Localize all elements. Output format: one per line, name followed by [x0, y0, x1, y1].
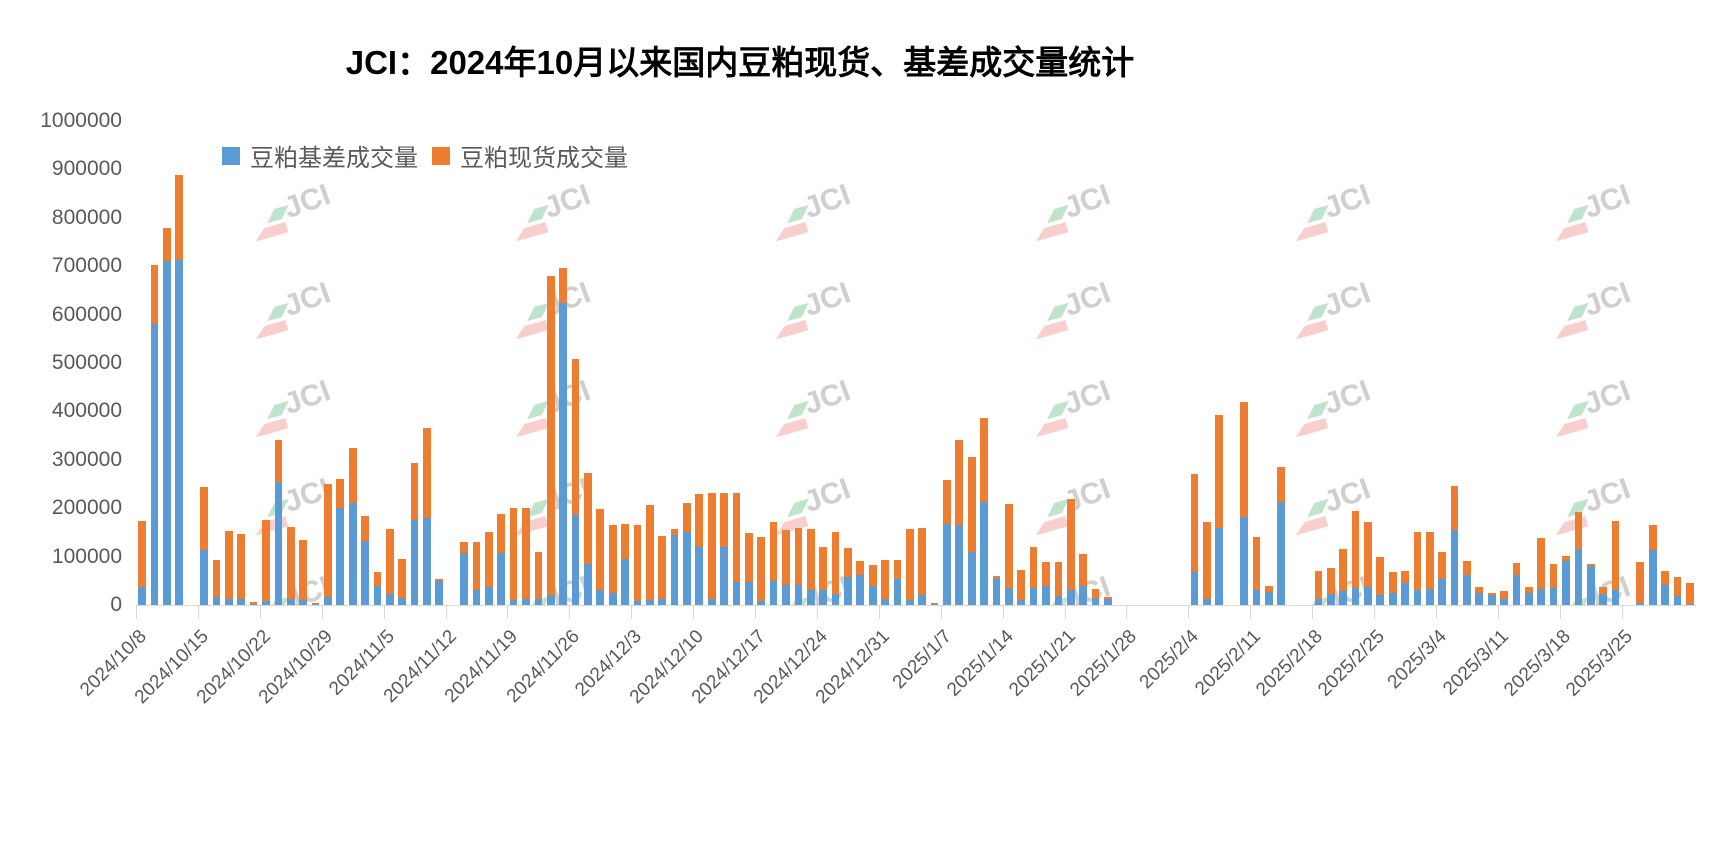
bar-segment-spot [1253, 537, 1261, 590]
bar-segment-basis [138, 587, 146, 605]
bar-segment-basis [1352, 588, 1360, 605]
bar-segment-spot [175, 175, 183, 260]
bar-segment-basis [1562, 561, 1570, 605]
bar-column [819, 121, 827, 605]
bar-column [695, 121, 703, 605]
bar-segment-basis [411, 520, 419, 605]
bar-column [621, 121, 629, 605]
bar-column [1005, 121, 1013, 605]
x-axis-tick-label: 2024/12/31 [780, 626, 895, 741]
bar-segment-spot [708, 493, 716, 599]
bar-segment-spot [1030, 547, 1038, 588]
bar-segment-basis [460, 553, 468, 605]
bar-segment-spot [671, 529, 679, 535]
bar-column [1030, 121, 1038, 605]
bar-segment-spot [943, 480, 951, 524]
bar-segment-basis [1240, 517, 1248, 605]
bar-segment-spot [795, 528, 803, 585]
bar-segment-basis [609, 593, 617, 605]
bar-segment-basis [993, 578, 1001, 605]
x-axis-tick-label: 2024/12/24 [718, 626, 833, 741]
bar-column [1562, 121, 1570, 605]
bar-segment-basis [361, 541, 369, 605]
bar-segment-spot [980, 418, 988, 503]
bar-segment-basis [1451, 530, 1459, 605]
x-axis-tick [1622, 605, 1623, 619]
bar-column [1488, 121, 1496, 605]
bar-segment-basis [547, 595, 555, 605]
bar-segment-basis [844, 577, 852, 605]
x-axis-tick [569, 605, 570, 619]
bar-column [374, 121, 382, 605]
bar-column [1451, 121, 1459, 605]
bar-column [225, 121, 233, 605]
bar-segment-basis [596, 590, 604, 605]
x-axis-tick-label: 2025/3/18 [1461, 626, 1576, 741]
bar-segment-spot [287, 527, 295, 600]
bar-segment-spot [262, 520, 270, 601]
bar-segment-basis [1525, 593, 1533, 605]
bar-column [1587, 121, 1595, 605]
bar-column [1612, 121, 1620, 605]
bar-column [1055, 121, 1063, 605]
bar-segment-spot [435, 579, 443, 580]
bar-column [1537, 121, 1545, 605]
bar-segment-spot [782, 530, 790, 585]
legend-item-spot[interactable]: 豆粕现货成交量 [432, 138, 628, 173]
x-axis-tick [693, 605, 694, 619]
bar-segment-basis [151, 324, 159, 605]
bar-segment-spot [497, 514, 505, 553]
x-axis-tick [322, 605, 323, 619]
x-axis-tick [1498, 605, 1499, 619]
x-axis-tick-label: 2024/11/12 [347, 626, 462, 741]
bar-segment-spot [559, 268, 567, 303]
bar-column [1438, 121, 1446, 605]
bar-segment-spot [250, 602, 258, 603]
bar-column [1525, 121, 1533, 605]
legend-label-basis: 豆粕基差成交量 [250, 138, 418, 173]
bar-column [1253, 121, 1261, 605]
bar-segment-basis [1376, 595, 1384, 605]
x-axis-tick [1560, 605, 1561, 619]
x-axis-tick [1003, 605, 1004, 619]
bar-column [1017, 121, 1025, 605]
bar-segment-spot [138, 521, 146, 586]
bar-column [795, 121, 803, 605]
x-axis-tick [755, 605, 756, 619]
bar-segment-spot [213, 560, 221, 596]
bar-segment-spot [1277, 467, 1285, 502]
bar-segment-basis [1092, 598, 1100, 605]
bar-segment-spot [1055, 562, 1063, 596]
bar-segment-spot [819, 547, 827, 590]
bar-column [398, 121, 406, 605]
bar-column [683, 121, 691, 605]
bar-segment-basis [1042, 586, 1050, 605]
legend-swatch-basis [222, 147, 240, 165]
bar-segment-spot [1488, 593, 1496, 595]
x-axis-tick [1126, 605, 1127, 619]
bar-segment-spot [931, 603, 939, 604]
bar-segment-spot [361, 516, 369, 541]
bar-column [918, 121, 926, 605]
bar-segment-basis [695, 547, 703, 605]
bar-segment-spot [1104, 597, 1112, 599]
bar-segment-basis [1599, 594, 1607, 605]
x-axis-tick-label: 2024/11/19 [408, 626, 523, 741]
bar-segment-basis [584, 564, 592, 605]
bar-column [497, 121, 505, 605]
bar-segment-spot [1649, 525, 1657, 551]
bar-segment-basis [1277, 502, 1285, 605]
bar-segment-spot [398, 559, 406, 598]
bar-column [510, 121, 518, 605]
bar-column [1079, 121, 1087, 605]
bar-segment-spot [621, 524, 629, 559]
bar-segment-spot [658, 536, 666, 599]
bar-column [1475, 121, 1483, 605]
bar-column [1376, 121, 1384, 605]
bar-column [1550, 121, 1558, 605]
x-axis-tick-label: 2025/2/18 [1213, 626, 1328, 741]
x-axis-tick [136, 605, 137, 619]
bar-column [943, 121, 951, 605]
y-axis-tick-label: 500000 [52, 351, 122, 375]
bar-segment-basis [770, 581, 778, 605]
bar-segment-spot [225, 531, 233, 599]
bar-segment-spot [1575, 512, 1583, 549]
bar-column [435, 121, 443, 605]
bar-column [423, 121, 431, 605]
bar-segment-basis [1649, 550, 1657, 605]
bar-segment-spot [1327, 568, 1335, 595]
bar-segment-basis [572, 515, 580, 605]
bar-column [312, 121, 320, 605]
bar-segment-spot [733, 493, 741, 582]
bar-segment-basis [1612, 590, 1620, 605]
x-axis-tick [384, 605, 385, 619]
bar-segment-spot [312, 603, 320, 604]
bar-segment-basis [1401, 583, 1409, 605]
bar-segment-basis [621, 559, 629, 605]
bar-segment-basis [200, 550, 208, 605]
bar-column [782, 121, 790, 605]
bar-segment-spot [1265, 586, 1273, 592]
bar-segment-basis [980, 502, 988, 605]
bar-segment-basis [1513, 575, 1521, 605]
bar-segment-basis [1575, 549, 1583, 605]
bar-column [881, 121, 889, 605]
bar-column [609, 121, 617, 605]
bar-column [646, 121, 654, 605]
x-axis-tick [1065, 605, 1066, 619]
bar-segment-basis [1537, 589, 1545, 605]
bar-segment-spot [1587, 564, 1595, 566]
bar-column [584, 121, 592, 605]
y-axis-tick-label: 400000 [52, 399, 122, 423]
bar-segment-basis [819, 590, 827, 605]
bar-column [1575, 121, 1583, 605]
bar-column [275, 121, 283, 605]
watermark-layer: JCIJCIJCIJCIJCIJCIJCIJCIJCIJCIJCIJCIJCIJ… [136, 121, 1696, 605]
bar-segment-spot [423, 428, 431, 518]
bar-segment-basis [423, 518, 431, 605]
x-axis-tick [941, 605, 942, 619]
bar-segment-basis [1253, 590, 1261, 605]
bar-segment-spot [1451, 486, 1459, 530]
x-axis-tick-label: 2025/1/14 [904, 626, 1019, 741]
bar-segment-basis [1055, 596, 1063, 605]
bar-segment-basis [1426, 589, 1434, 605]
bar-segment-basis [435, 581, 443, 605]
bar-segment-basis [349, 503, 357, 605]
bar-column [361, 121, 369, 605]
bar-segment-basis [918, 595, 926, 605]
bar-column [1414, 121, 1422, 605]
bar-segment-spot [411, 463, 419, 520]
bar-segment-spot [906, 529, 914, 601]
x-axis-tick-label: 2024/12/3 [532, 626, 647, 741]
bar-segment-spot [584, 473, 592, 564]
bar-column [980, 121, 988, 605]
bar-segment-spot [460, 542, 468, 553]
bar-column [844, 121, 852, 605]
bar-segment-basis [386, 594, 394, 605]
bar-segment-spot [993, 576, 1001, 578]
x-axis-tick [1436, 605, 1437, 619]
bar-segment-basis [1030, 588, 1038, 605]
bar-segment-spot [844, 548, 852, 577]
bar-segment-spot [275, 440, 283, 481]
bar-segment-spot [1240, 402, 1248, 517]
bar-column [745, 121, 753, 605]
bar-column [1215, 121, 1223, 605]
chart-legend: 豆粕基差成交量豆粕现货成交量 [222, 138, 628, 173]
bar-segment-spot [1203, 522, 1211, 599]
bar-segment-spot [1475, 587, 1483, 593]
bar-segment-basis [1215, 528, 1223, 605]
bar-segment-spot [336, 479, 344, 508]
bar-column [138, 121, 146, 605]
bar-segment-basis [398, 598, 406, 605]
bar-segment-spot [968, 457, 976, 551]
bar-segment-spot [894, 560, 902, 579]
bar-segment-basis [1327, 594, 1335, 605]
bar-column [1401, 121, 1409, 605]
bar-column [1327, 121, 1335, 605]
bar-column [324, 121, 332, 605]
bar-column [658, 121, 666, 605]
bar-segment-basis [1005, 588, 1013, 605]
bar-segment-basis [324, 597, 332, 605]
bar-segment-spot [1686, 583, 1694, 603]
bar-column [955, 121, 963, 605]
bar-segment-basis [485, 587, 493, 605]
bar-segment-spot [1005, 504, 1013, 588]
y-axis-tick-label: 600000 [52, 303, 122, 327]
bar-segment-basis [807, 590, 815, 605]
bar-segment-basis [782, 585, 790, 605]
bar-segment-basis [1265, 592, 1273, 605]
bar-column [485, 121, 493, 605]
bar-segment-basis [1475, 593, 1483, 605]
x-axis-tick [446, 605, 447, 619]
x-axis-tick [1188, 605, 1189, 619]
bar-segment-spot [856, 561, 864, 575]
bar-segment-basis [473, 590, 481, 605]
bar-segment-spot [646, 505, 654, 600]
bar-segment-spot [1438, 552, 1446, 580]
x-axis-line [136, 605, 1696, 606]
bar-column [299, 121, 307, 605]
chart-container: JCI：2024年10月以来国内豆粕现货、基差成交量统计 10000009000… [0, 0, 1720, 865]
bar-segment-spot [1562, 556, 1570, 562]
bar-column [832, 121, 840, 605]
bar-segment-spot [695, 494, 703, 547]
bar-segment-spot [1426, 532, 1434, 589]
x-axis-tick [260, 605, 261, 619]
bar-column [237, 121, 245, 605]
y-axis-tick-label: 0 [110, 593, 122, 617]
bar-segment-basis [955, 525, 963, 605]
bar-segment-spot [299, 540, 307, 601]
bar-segment-basis [1463, 575, 1471, 605]
bar-segment-basis [856, 575, 864, 605]
bar-column [547, 121, 555, 605]
bar-segment-spot [770, 522, 778, 581]
bar-segment-basis [745, 582, 753, 605]
bar-segment-spot [386, 529, 394, 594]
bar-column [151, 121, 159, 605]
x-axis-tick-label: 2024/11/26 [470, 626, 585, 741]
bar-column [262, 121, 270, 605]
bar-segment-basis [1339, 591, 1347, 605]
bar-column [1649, 121, 1657, 605]
bar-column [1265, 121, 1273, 605]
bar-segment-basis [832, 594, 840, 605]
bar-segment-spot [200, 487, 208, 550]
bar-segment-spot [1414, 532, 1422, 590]
legend-label-spot: 豆粕现货成交量 [460, 138, 628, 173]
bar-column [1389, 121, 1397, 605]
bar-column [1661, 121, 1669, 605]
bar-segment-basis [336, 508, 344, 605]
bar-segment-basis [894, 579, 902, 605]
bar-column [411, 121, 419, 605]
bar-segment-spot [1215, 415, 1223, 527]
bar-segment-spot [1661, 571, 1669, 585]
bar-column [1426, 121, 1434, 605]
bar-segment-spot [720, 493, 728, 547]
bar-segment-basis [1488, 595, 1496, 605]
bar-segment-spot [374, 572, 382, 586]
bar-segment-basis [497, 553, 505, 605]
bar-segment-spot [869, 565, 877, 585]
bar-column [807, 121, 815, 605]
bar-column [175, 121, 183, 605]
bar-column [572, 121, 580, 605]
x-axis-tick [631, 605, 632, 619]
bar-column [522, 121, 530, 605]
bar-segment-spot [1339, 549, 1347, 592]
bar-segment-spot [1315, 571, 1323, 599]
bar-column [349, 121, 357, 605]
bar-segment-spot [163, 228, 171, 262]
bar-column [708, 121, 716, 605]
x-axis-tick-label: 2025/2/11 [1151, 626, 1266, 741]
bar-segment-spot [237, 534, 245, 599]
y-axis-tick-label: 900000 [52, 157, 122, 181]
legend-swatch-spot [432, 147, 450, 165]
bar-column [559, 121, 567, 605]
bar-column [287, 121, 295, 605]
bar-column [1674, 121, 1682, 605]
legend-item-basis[interactable]: 豆粕基差成交量 [222, 138, 418, 173]
bar-segment-spot [832, 532, 840, 594]
bar-column [968, 121, 976, 605]
plot-area: JCIJCIJCIJCIJCIJCIJCIJCIJCIJCIJCIJCIJCIJ… [136, 121, 1696, 605]
bar-column [1104, 121, 1112, 605]
bar-segment-spot [151, 265, 159, 325]
bar-segment-spot [1463, 561, 1471, 574]
bar-column [250, 121, 258, 605]
bar-column [1513, 121, 1521, 605]
bar-segment-basis [1550, 588, 1558, 605]
bar-column [1364, 121, 1372, 605]
bar-segment-spot [1599, 587, 1607, 594]
bar-column [535, 121, 543, 605]
bar-column [1315, 121, 1323, 605]
bar-segment-spot [1376, 557, 1384, 596]
bar-segment-spot [745, 533, 753, 582]
bar-segment-basis [175, 260, 183, 605]
bar-column [757, 121, 765, 605]
bar-segment-spot [1079, 554, 1087, 585]
bar-segment-spot [1352, 511, 1360, 588]
bar-segment-basis [213, 597, 221, 605]
bar-column [596, 121, 604, 605]
y-axis-tick-label: 100000 [52, 545, 122, 569]
y-axis-tick-label: 800000 [52, 206, 122, 230]
bar-column [1203, 121, 1211, 605]
x-axis-tick-label: 2025/1/21 [966, 626, 1081, 741]
bar-column [1277, 121, 1285, 605]
bar-segment-spot [1636, 562, 1644, 602]
bar-column [1240, 121, 1248, 605]
bar-segment-basis [968, 552, 976, 605]
bar-segment-spot [634, 525, 642, 601]
bar-column [460, 121, 468, 605]
y-axis-tick-label: 200000 [52, 496, 122, 520]
bar-segment-spot [1042, 562, 1050, 585]
x-axis-tick-label: 2025/3/11 [1399, 626, 1514, 741]
x-axis-tick-label: 2024/10/29 [223, 626, 338, 741]
x-axis-tick-label: 2024/12/10 [594, 626, 709, 741]
bar-segment-spot [535, 552, 543, 599]
bar-column [1191, 121, 1199, 605]
bar-column [856, 121, 864, 605]
bar-segment-spot [1513, 563, 1521, 574]
x-axis-tick-label: 2024/12/17 [656, 626, 771, 741]
x-axis-tick [1374, 605, 1375, 619]
bar-segment-basis [1067, 590, 1075, 605]
bar-segment-basis [163, 261, 171, 605]
bar-segment-spot [349, 448, 357, 504]
bar-segment-basis [275, 482, 283, 605]
bar-segment-basis [1364, 587, 1372, 605]
bar-column [894, 121, 902, 605]
